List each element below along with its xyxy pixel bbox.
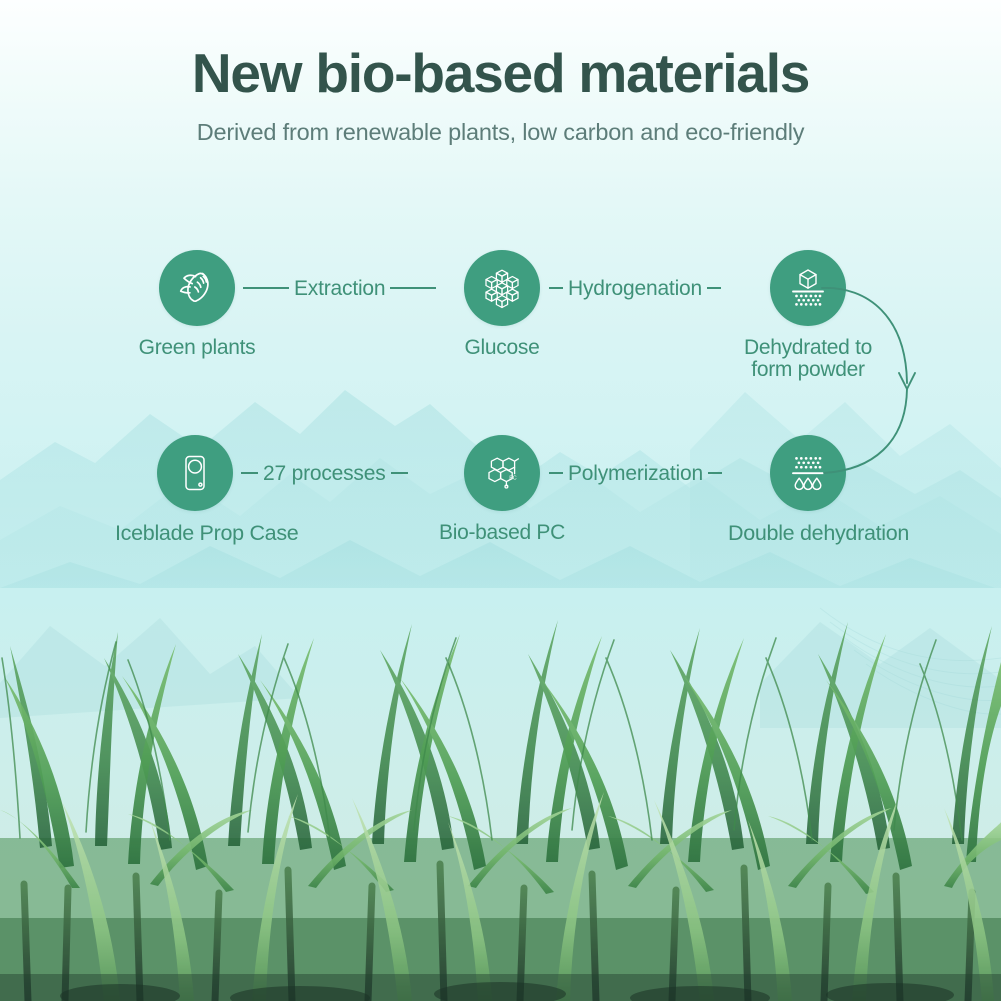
flow-node-label: Glucose [422, 337, 582, 359]
connector-polymerization: Polymerization [549, 462, 722, 484]
sugarcane-field-photo [0, 588, 1001, 1001]
flow-node-bio-based-pc[interactable]: PC Bio-based PC [422, 435, 582, 544]
connector-row-transition-arrow [820, 265, 1000, 495]
connector-line [549, 287, 563, 289]
flow-node-label: Bio-based PC [422, 522, 582, 544]
flow-node-iceblade-prop-case[interactable]: Iceblade Prop Case [115, 435, 275, 545]
connector-line [243, 287, 289, 289]
connector-line [549, 472, 563, 474]
connector-label: Polymerization [563, 463, 708, 484]
connector-line [391, 472, 408, 474]
flow-node-label: Double dehydration [728, 522, 888, 545]
connector-extraction: Extraction [243, 277, 436, 299]
connector-label: Extraction [289, 278, 390, 299]
connector-line [390, 287, 436, 289]
connector-hydrogenation: Hydrogenation [549, 277, 721, 299]
connector-line [241, 472, 258, 474]
svg-text:PC: PC [509, 476, 517, 482]
flow-node-label: Iceblade Prop Case [115, 522, 275, 545]
flow-node-green-plants[interactable]: Green plants [117, 250, 277, 359]
infographic-canvas: New bio-based materials Derived from ren… [0, 0, 1001, 1001]
sugar-cubes-icon [464, 250, 540, 326]
process-flow-diagram: Green plants [0, 0, 1001, 600]
flow-node-glucose[interactable]: Glucose [422, 250, 582, 359]
connector-label: 27 processes [258, 463, 391, 484]
connector-line [708, 472, 722, 474]
phone-case-icon [157, 435, 233, 511]
corn-icon [159, 250, 235, 326]
molecule-pc-icon: PC [464, 435, 540, 511]
connector-label: Hydrogenation [563, 278, 707, 299]
connector-line [707, 287, 721, 289]
connector-27-processes: 27 processes [241, 462, 408, 484]
flow-node-label: Green plants [117, 337, 277, 359]
